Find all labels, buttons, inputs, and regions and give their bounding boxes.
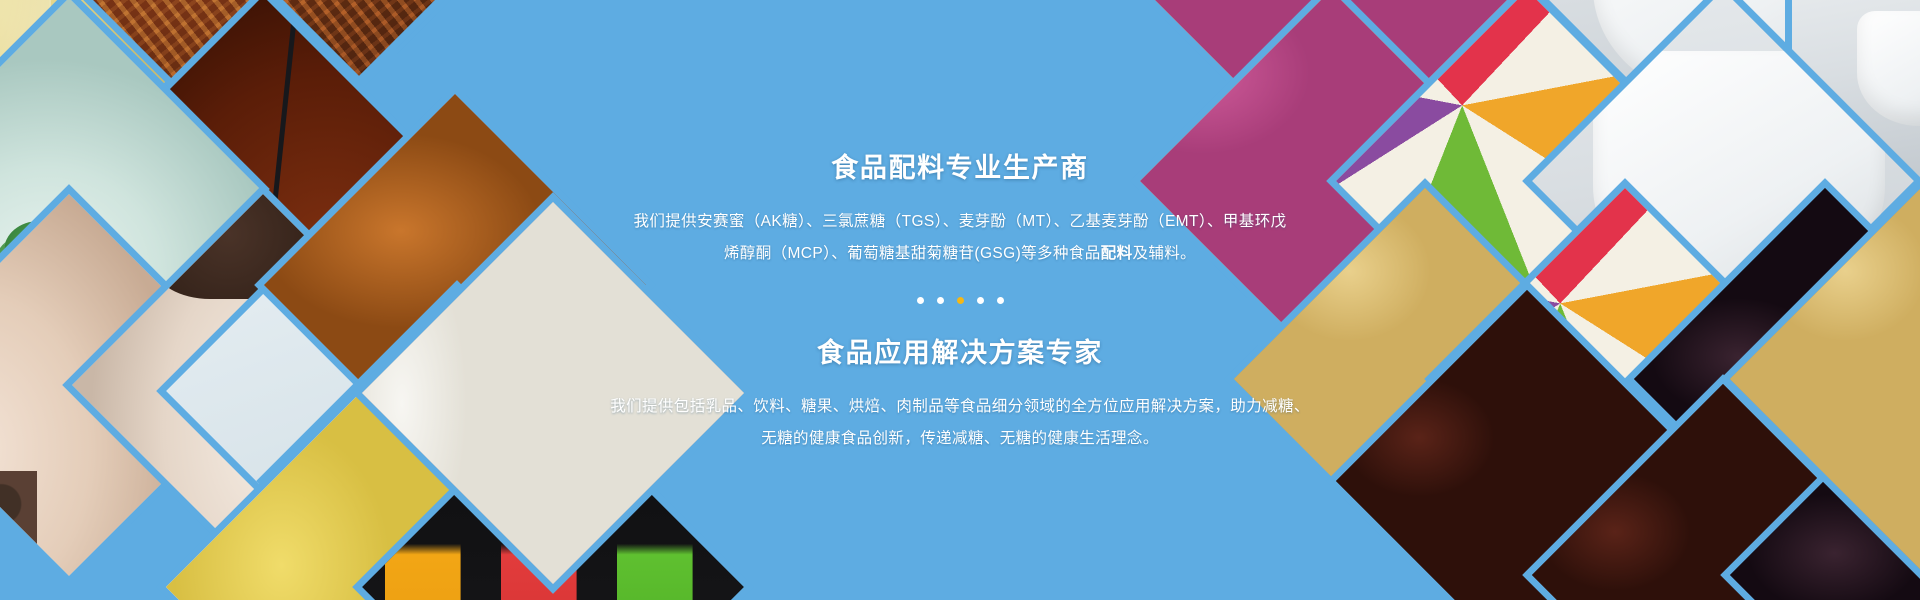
paragraph-solutions: 我们提供包括乳品、饮料、糖果、烘焙、肉制品等食品细分领域的全方位应用解决方案，助… xyxy=(610,391,1310,455)
paragraph-solutions-line-2: 无糖的健康食品创新，传递减糖、无糖的健康生活理念。 xyxy=(610,423,1310,455)
separator-dot-3-active xyxy=(957,297,964,304)
message-block-ingredients: 食品配料专业生产商 我们提供安赛蜜（AK糖）、三氯蔗糖（TGS）、麦芽酚（MT）… xyxy=(633,146,1286,270)
separator-dot-4 xyxy=(977,297,984,304)
paragraph-ingredients-line-2: 烯醇酮（MCP）、葡萄糖基甜菊糖苷(GSG)等多种食品配料及辅料。 xyxy=(633,238,1286,270)
separator-dot-2 xyxy=(937,297,944,304)
paragraph-ingredients-emphasis: 配料 xyxy=(1101,245,1133,262)
banner-text-overlay: 食品配料专业生产商 我们提供安赛蜜（AK糖）、三氯蔗糖（TGS）、麦芽酚（MT）… xyxy=(0,0,1920,600)
paragraph-solutions-line-1: 我们提供包括乳品、饮料、糖果、烘焙、肉制品等食品细分领域的全方位应用解决方案，助… xyxy=(610,391,1310,423)
separator-dot-5 xyxy=(997,297,1004,304)
dot-separator xyxy=(917,297,1004,304)
paragraph-ingredients-line-2-after: 及辅料。 xyxy=(1132,245,1196,262)
message-block-solutions: 食品应用解决方案专家 我们提供包括乳品、饮料、糖果、烘焙、肉制品等食品细分领域的… xyxy=(610,331,1310,455)
paragraph-ingredients-line-1: 我们提供安赛蜜（AK糖）、三氯蔗糖（TGS）、麦芽酚（MT）、乙基麦芽酚（EMT… xyxy=(633,206,1286,238)
heading-solutions: 食品应用解决方案专家 xyxy=(610,331,1310,370)
heading-ingredients: 食品配料专业生产商 xyxy=(633,146,1286,185)
hero-banner: 食品配料专业生产商 我们提供安赛蜜（AK糖）、三氯蔗糖（TGS）、麦芽酚（MT）… xyxy=(0,0,1920,600)
paragraph-ingredients: 我们提供安赛蜜（AK糖）、三氯蔗糖（TGS）、麦芽酚（MT）、乙基麦芽酚（EMT… xyxy=(633,206,1286,270)
separator-dot-1 xyxy=(917,297,924,304)
paragraph-ingredients-line-2-before: 烯醇酮（MCP）、葡萄糖基甜菊糖苷(GSG)等多种食品 xyxy=(724,245,1101,262)
